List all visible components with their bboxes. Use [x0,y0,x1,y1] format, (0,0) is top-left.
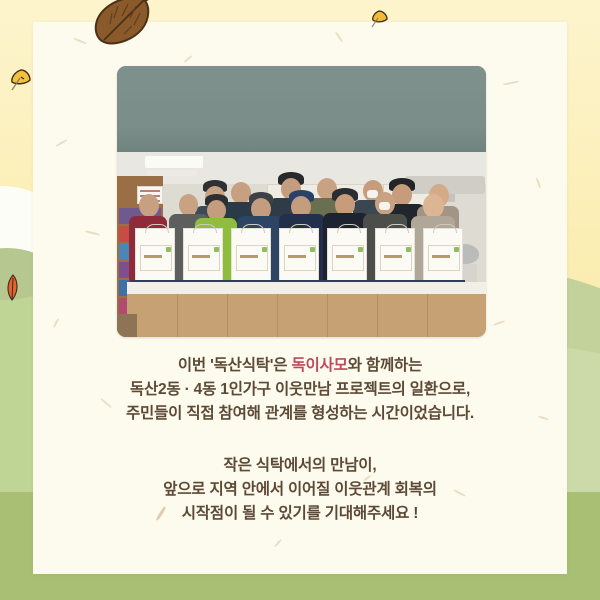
photo-counter-plank [177,294,178,337]
caption-line: 앞으로 지역 안에서 이어질 이웃관계 회복의 [33,478,567,502]
paper-fibre [184,55,193,63]
caption-segment: 주민들이 직접 참여해 관계를 형성하는 시간이었습니다. [126,405,474,422]
gift-bag-sticker [214,247,219,252]
photo-light-fixture [145,156,203,168]
caption-line: 주민들이 직접 참여해 관계를 형성하는 시간이었습니다. [33,402,567,426]
orange-leaf-hill-icon [4,274,22,302]
gift-bag-sticker [166,247,171,252]
gift-bag-sticker [454,247,459,252]
group-photo [117,66,486,337]
gift-bag [327,228,367,282]
caption-accent-segment: 독이사모 [291,357,347,374]
caption-segment: 이번 '독산식탁'은 [178,357,292,374]
caption-paragraph-1: 이번 '독산식탁'은 독이사모와 함께하는 독산2동 · 4동 1인가구 이웃만… [33,354,567,426]
gift-bag [423,228,463,282]
caption-block: 이번 '독산식탁'은 독이사모와 함께하는 독산2동 · 4동 1인가구 이웃만… [33,354,567,526]
caption-segment: 앞으로 지역 안에서 이어질 이웃관계 회복의 [163,481,437,498]
gift-bag-text [288,255,306,258]
paper-fibre [53,318,59,328]
photo-counter-plank [277,294,278,337]
photo-counter-plank [377,294,378,337]
gift-bag [231,228,271,282]
gift-bag-text [336,255,354,258]
ginkgo-leaf-left-icon [8,66,34,92]
gift-bag-text [144,255,162,258]
caption-segment: 시작점이 될 수 있기를 기대해주세요 ! [182,505,418,522]
caption-segment: 작은 식탁에서의 만남이, [224,457,377,474]
gift-bag-sticker [310,247,315,252]
caption-line: 이번 '독산식탁'은 독이사모와 함께하는 [33,354,567,378]
caption-spacer [33,426,567,454]
photo-ceiling [117,66,486,154]
gift-bag-sticker [262,247,267,252]
caption-paragraph-2: 작은 식탁에서의 만남이, 앞으로 지역 안에서 이어질 이웃관계 회복의 시작… [33,454,567,526]
gift-bag-text [192,255,210,258]
caption-line: 작은 식탁에서의 만남이, [33,454,567,478]
paper-fibre [55,139,67,147]
photo-counter-plank [227,294,228,337]
gift-bag [375,228,415,282]
gift-bag-text [432,255,450,258]
caption-segment: 독산2동 · 4동 1인가구 이웃만남 프로젝트의 일환으로, [130,381,470,398]
gift-bag [183,228,223,282]
photo-floor [117,314,137,337]
photo-counter-front [127,294,486,337]
gift-bag-text [384,255,402,258]
paper-fibre [493,320,505,326]
paper-fibre [274,539,282,548]
paper-fibre [503,80,519,85]
paper-fibre [335,32,344,43]
photo-counter-plank [427,294,428,337]
gift-bag-sticker [358,247,363,252]
brown-leaf-icon [88,0,156,48]
poster-canvas: 이번 '독산식탁'은 독이사모와 함께하는 독산2동 · 4동 1인가구 이웃만… [0,0,600,600]
gift-bag [279,228,319,282]
ginkgo-leaf-top-icon [370,8,390,28]
gift-bag-sticker [406,247,411,252]
paper-card: 이번 '독산식탁'은 독이사모와 함께하는 독산2동 · 4동 1인가구 이웃만… [33,22,567,574]
photo-counter-plank [327,294,328,337]
paper-fibre [85,230,100,236]
caption-line: 독산2동 · 4동 1인가구 이웃만남 프로젝트의 일환으로, [33,378,567,402]
gift-bag [135,228,175,282]
gift-bag-text [240,255,258,258]
photo-counter-top [127,282,486,294]
paper-fibre [73,37,87,44]
paper-fibre [536,177,542,188]
caption-segment: 와 함께하는 [348,357,422,374]
caption-line: 시작점이 될 수 있기를 기대해주세요 ! [33,502,567,526]
